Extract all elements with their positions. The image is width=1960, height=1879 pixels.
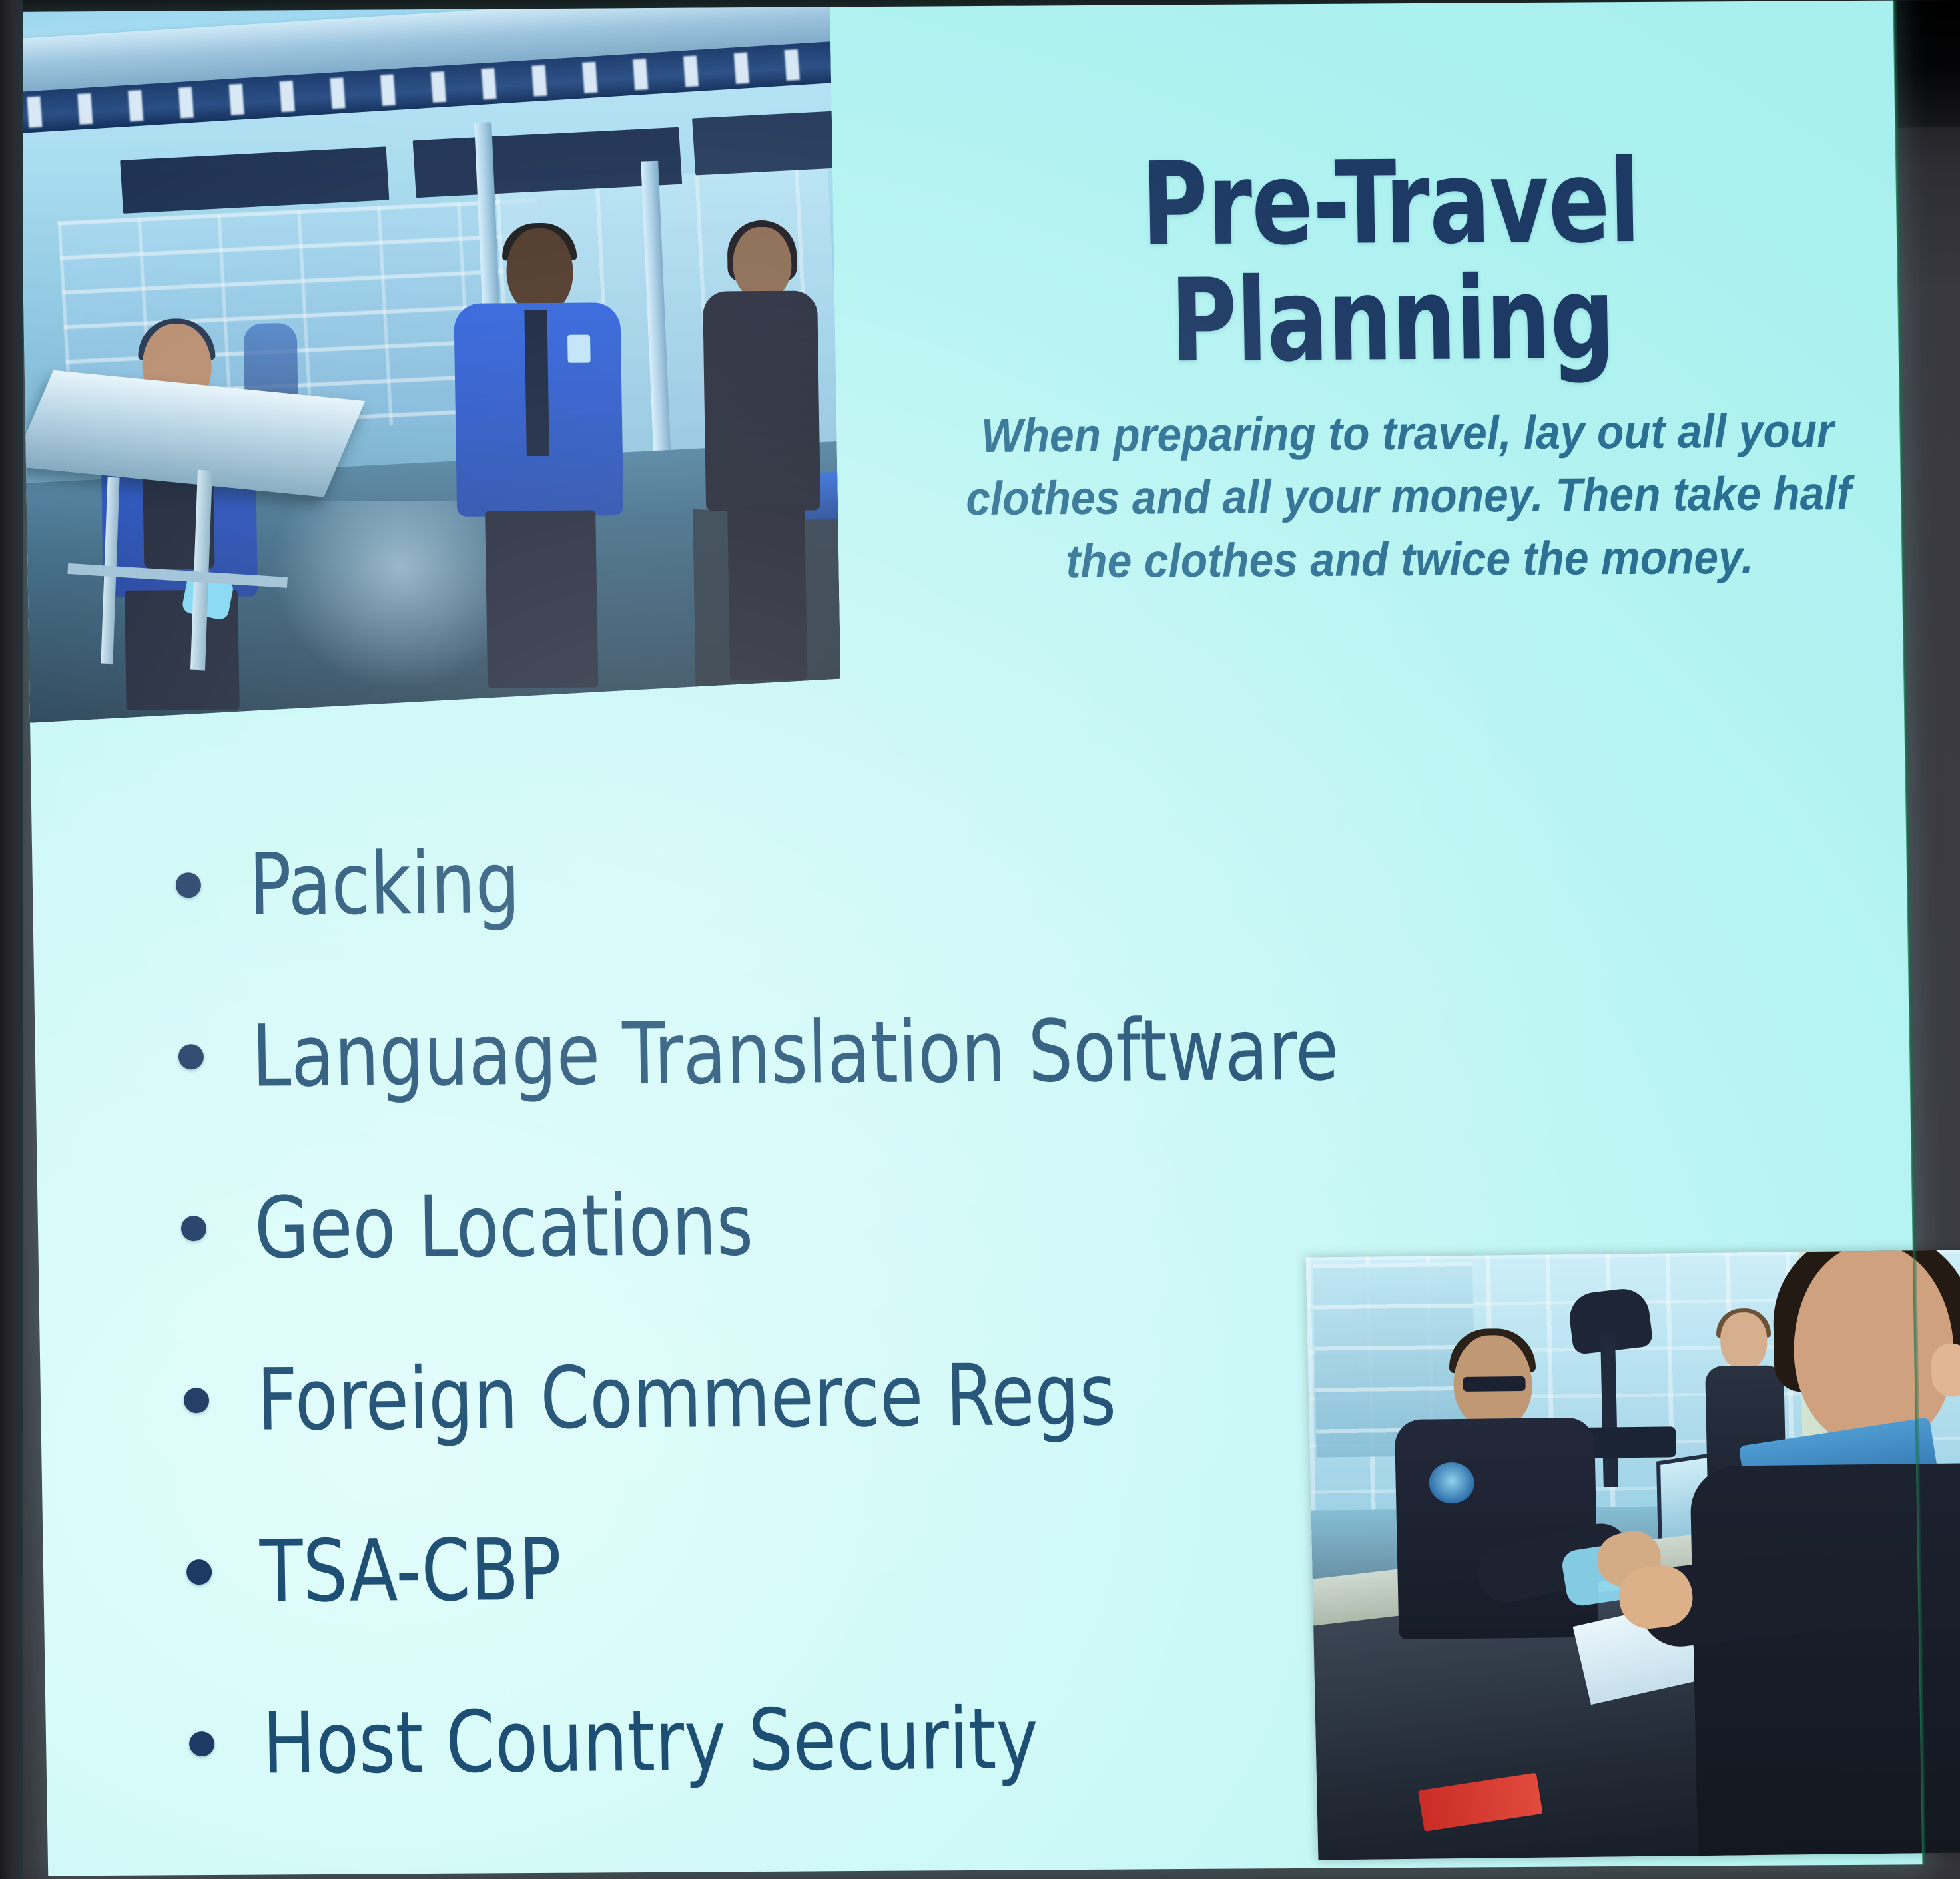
left-wall-edge [0, 0, 23, 1879]
presentation-slide: Pre-Travel Planning When preparing to tr… [19, 1, 1923, 1876]
list-item: Packing [175, 836, 1443, 1015]
cbp-inspection-booth-photo [1306, 1250, 1960, 1860]
traveler-at-counter [1672, 1250, 1960, 1859]
cbp-officer [1393, 1334, 1600, 1709]
page-title: Pre-Travel Planning [1000, 142, 1783, 381]
bullet-dot-icon [181, 1216, 207, 1241]
bullet-label: Packing [248, 841, 521, 928]
bullet-label: Host Country Security [262, 1697, 1038, 1786]
tsa-officer-3 [695, 226, 828, 680]
projected-slide-wrapper: Pre-Travel Planning When preparing to tr… [0, 0, 1941, 1879]
tsa-checkpoint-photo [19, 7, 841, 722]
bullet-dot-icon [186, 1559, 212, 1585]
bullet-label: Geo Locations [254, 1183, 754, 1272]
bullet-label: Language Translation Software [251, 1008, 1339, 1100]
list-item: Geo Locations [180, 1179, 1449, 1359]
slide-subtitle: When preparing to travel, lay out all yo… [946, 400, 1871, 595]
list-item: Language Translation Software [178, 1007, 1446, 1187]
bullet-dot-icon [178, 1044, 204, 1069]
tsa-officer-2 [448, 228, 629, 688]
bullet-list: Packing Language Translation Software Ge… [175, 836, 1457, 1874]
list-item: Host Country Security [188, 1695, 1457, 1874]
list-item: Foreign Commerce Regs [183, 1351, 1451, 1531]
bullet-dot-icon [176, 872, 202, 898]
projection-room: Pre-Travel Planning When preparing to tr… [0, 0, 1960, 1879]
bullet-label: TSA-CBP [259, 1528, 562, 1615]
bullet-dot-icon [189, 1731, 215, 1756]
list-item: TSA-CBP [186, 1523, 1454, 1703]
bullet-label: Foreign Commerce Regs [256, 1353, 1117, 1444]
bullet-dot-icon [184, 1388, 210, 1413]
